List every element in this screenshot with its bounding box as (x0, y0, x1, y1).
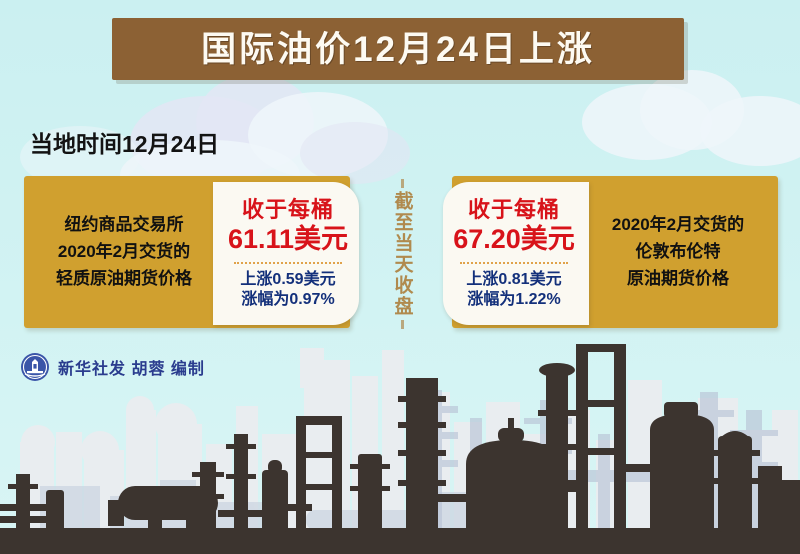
brent-card-price: 67.20美元 (453, 223, 575, 255)
nymex-card-price: 61.11美元 (228, 223, 348, 255)
nymex-card-percent: 涨幅为0.97% (241, 290, 334, 310)
page-title-bar: 国际油价12月24日上涨 (112, 18, 684, 80)
nymex-panel-text: 纽约商品交易所 2020年2月交货的 轻质原油期货价格 (26, 176, 222, 328)
nymex-card-heading: 收于每桶 (242, 197, 334, 222)
brent-card-divider (460, 262, 568, 264)
nymex-line-3: 轻质原油期货价格 (56, 270, 192, 288)
closing-time-label: 截至当天收盘 (389, 170, 415, 338)
brent-line-1: 2020年2月交货的 (612, 216, 744, 234)
nymex-card-change: 上涨0.59美元 (240, 270, 335, 290)
nymex-card-divider (234, 262, 342, 264)
artwork-layer (0, 314, 800, 554)
brent-line-2: 伦敦布伦特 (636, 243, 721, 261)
brent-card-percent: 涨幅为1.22% (467, 290, 560, 310)
brent-panel-text: 2020年2月交货的 伦敦布伦特 原油期货价格 (580, 176, 776, 328)
nymex-price-card: 收于每桶 61.11美元 上涨0.59美元 涨幅为0.97% (213, 182, 359, 325)
page-title: 国际油价12月24日上涨 (201, 32, 595, 67)
dash-tick-icon (401, 179, 404, 188)
brent-line-3: 原油期货价格 (627, 270, 729, 288)
brent-card-heading: 收于每桶 (468, 197, 560, 222)
nymex-line-2: 2020年2月交货的 (58, 243, 190, 261)
date-label: 当地时间12月24日 (30, 125, 219, 159)
nymex-line-1: 纽约商品交易所 (65, 216, 184, 234)
brent-price-card: 收于每桶 67.20美元 上涨0.81美元 涨幅为1.22% (443, 182, 589, 325)
brent-card-change: 上涨0.81美元 (466, 270, 561, 290)
infographic-canvas: 国际油价12月24日上涨 当地时间12月24日 纽约商品交易所 2020年2月交… (0, 0, 800, 554)
closing-time-text: 截至当天收盘 (393, 191, 412, 317)
